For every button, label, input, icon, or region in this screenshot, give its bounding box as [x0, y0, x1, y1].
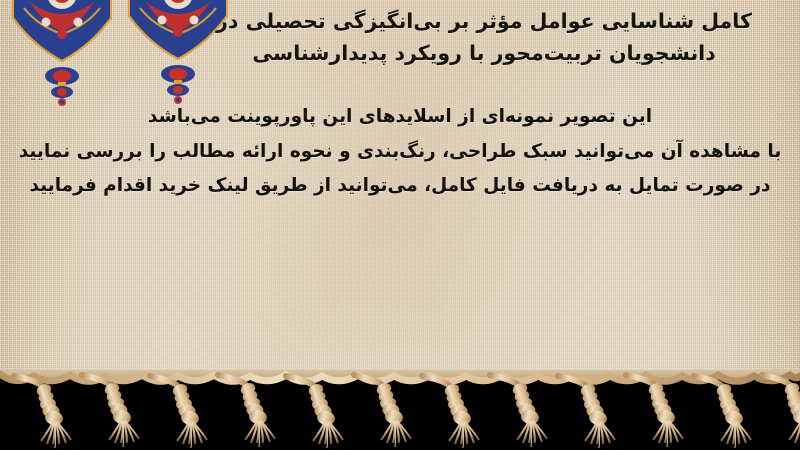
- fringe-tassels: [14, 375, 800, 448]
- body-line-1: این تصویر نمونه‌ای از اسلایدهای این پاور…: [0, 108, 800, 127]
- fringe-svg: [0, 370, 800, 450]
- slide-canvas: کامل شناسایی عوامل مؤثر بر بی‌انگیزگی تح…: [0, 0, 800, 450]
- body-line-3: در صورت تمایل به دریافت فایل کامل، می‌تو…: [0, 177, 800, 196]
- knotted-tassel-fringe: [0, 370, 800, 450]
- slide-body: این تصویر نمونه‌ای از اسلایدهای این پاور…: [0, 108, 800, 196]
- title-line-2: دانشجویان تربیت‌محور با رویکرد پدیدارشنا…: [204, 38, 764, 70]
- fringe-cord-garland: [0, 374, 800, 381]
- slide-title: کامل شناسایی عوامل مؤثر بر بی‌انگیزگی تح…: [204, 6, 764, 70]
- body-line-2: با مشاهده آن می‌توانید سبک طراحی، رنگ‌بن…: [0, 143, 800, 162]
- text-layer: کامل شناسایی عوامل مؤثر بر بی‌انگیزگی تح…: [0, 0, 800, 381]
- title-line-1: کامل شناسایی عوامل مؤثر بر بی‌انگیزگی تح…: [204, 6, 764, 38]
